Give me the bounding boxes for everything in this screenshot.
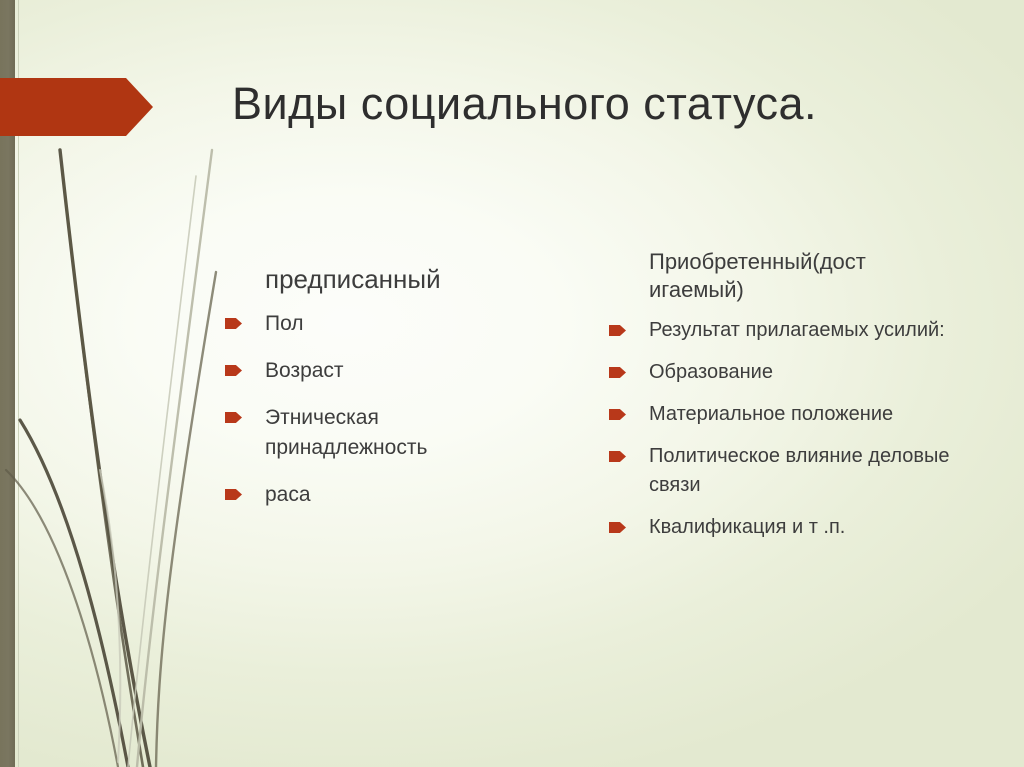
list-item-label: Политическое влияние деловые связи — [649, 445, 950, 496]
bullet-list-left: Пол Возраст Этническая принадлежность ра… — [218, 309, 528, 510]
page-title: Виды социального статуса. — [232, 75, 992, 133]
list-item: Политическое влияние деловые связи — [602, 442, 954, 500]
red-arrow-banner — [0, 78, 153, 136]
tag-bullet-icon — [225, 365, 242, 376]
tag-bullet-icon — [225, 318, 242, 329]
tag-bullet-icon — [609, 451, 626, 462]
list-item: Результат прилагаемых усилий: — [602, 316, 954, 345]
list-item-label: Результат прилагаемых усилий: — [649, 319, 945, 341]
tag-bullet-icon — [609, 409, 626, 420]
list-item-label: Материальное положение — [649, 403, 893, 425]
list-item: Пол — [218, 309, 528, 339]
list-item-label: раса — [265, 483, 311, 506]
column-achieved-status: Приобретенный(дост игаемый) Результат пр… — [602, 248, 954, 555]
tag-bullet-icon — [225, 412, 242, 423]
list-item-label: Этническая принадлежность — [265, 406, 427, 459]
bullet-list-right: Результат прилагаемых усилий: Образовани… — [602, 316, 954, 542]
list-item: Возраст — [218, 356, 528, 386]
list-item: раса — [218, 480, 528, 510]
list-item-label: Образование — [649, 361, 773, 383]
tag-bullet-icon — [609, 325, 626, 336]
list-item: Образование — [602, 358, 954, 387]
tag-bullet-icon — [609, 522, 626, 533]
list-item: Этническая принадлежность — [218, 403, 528, 463]
list-item: Квалификация и т .п. — [602, 513, 954, 542]
list-item-label: Возраст — [265, 359, 344, 382]
list-item-label: Пол — [265, 312, 304, 335]
tag-bullet-icon — [609, 367, 626, 378]
slide-canvas: Виды социального статуса. предписанный П… — [0, 0, 1024, 767]
list-item-label: Квалификация и т .п. — [649, 516, 845, 538]
list-item: Материальное положение — [602, 400, 954, 429]
column-heading-right: Приобретенный(дост игаемый) — [602, 248, 954, 304]
column-heading-left: предписанный — [218, 262, 528, 296]
tag-bullet-icon — [225, 489, 242, 500]
column-prescribed-status: предписанный Пол Возраст Этническая прин… — [218, 248, 528, 527]
